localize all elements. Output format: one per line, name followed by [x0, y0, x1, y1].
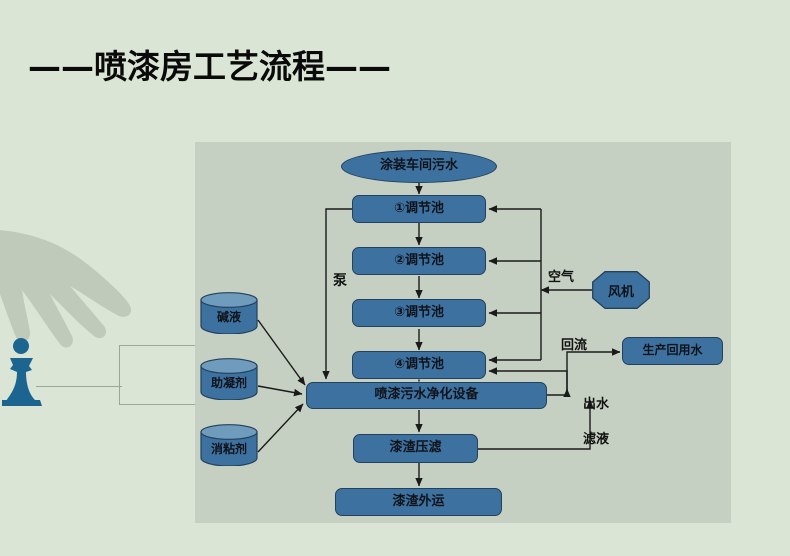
- node-source[interactable]: 涂装车间污水: [341, 150, 497, 183]
- edge-label-filtrate-text: 滤液: [583, 432, 609, 447]
- node-treatment[interactable]: 喷漆污水净化设备: [306, 382, 547, 409]
- edge-label-air-text: 空气: [548, 270, 574, 285]
- node-blower[interactable]: 风机: [592, 271, 650, 309]
- node-tank-3[interactable]: ③调节池: [352, 299, 486, 327]
- node-reuse-water[interactable]: 生产回用水: [622, 337, 723, 365]
- decorative-line: [36, 386, 122, 387]
- node-press-label: 漆渣压滤: [389, 441, 441, 455]
- node-dosing-2[interactable]: 助凝剂: [200, 358, 258, 400]
- edge-label-pump: 泵: [333, 270, 347, 290]
- node-source-label: 涂装车间污水: [380, 159, 458, 173]
- node-tank-2-label: ②调节池: [394, 254, 444, 268]
- node-press[interactable]: 漆渣压滤: [353, 434, 478, 463]
- slide-canvas: ——喷漆房工艺流程——: [0, 0, 790, 556]
- chess-pawn-icon: [2, 336, 48, 406]
- node-reuse-water-label: 生产回用水: [642, 344, 702, 357]
- node-treatment-label: 喷漆污水净化设备: [374, 388, 478, 402]
- node-tank-1-label: ①调节池: [394, 202, 444, 216]
- node-disposal[interactable]: 漆渣外运: [335, 488, 502, 516]
- node-dosing-1[interactable]: 碱液: [200, 292, 258, 334]
- node-dosing-2-label: 助凝剂: [211, 374, 247, 391]
- node-dosing-3-label: 消粘剂: [211, 440, 247, 457]
- edge-label-pump-text: 泵: [333, 273, 347, 289]
- node-tank-3-label: ③调节池: [394, 306, 444, 320]
- edge-label-effluent-text: 出水: [583, 397, 609, 412]
- node-tank-4-label: ④调节池: [394, 358, 444, 372]
- edge-label-effluent: 出水: [583, 393, 609, 412]
- node-dosing-3[interactable]: 消粘剂: [200, 424, 258, 466]
- edge-label-return: 回流: [561, 334, 587, 353]
- node-tank-2[interactable]: ②调节池: [352, 247, 486, 275]
- node-dosing-1-label: 碱液: [217, 308, 241, 325]
- node-disposal-label: 漆渣外运: [392, 495, 444, 509]
- page-title: ——喷漆房工艺流程——: [28, 48, 391, 86]
- edge-label-air: 空气: [548, 266, 574, 285]
- node-tank-1[interactable]: ①调节池: [352, 195, 486, 223]
- node-tank-4[interactable]: ④调节池: [352, 351, 486, 379]
- edge-label-filtrate: 滤液: [583, 428, 609, 447]
- node-blower-label: 风机: [608, 281, 634, 300]
- edge-label-return-text: 回流: [561, 338, 587, 353]
